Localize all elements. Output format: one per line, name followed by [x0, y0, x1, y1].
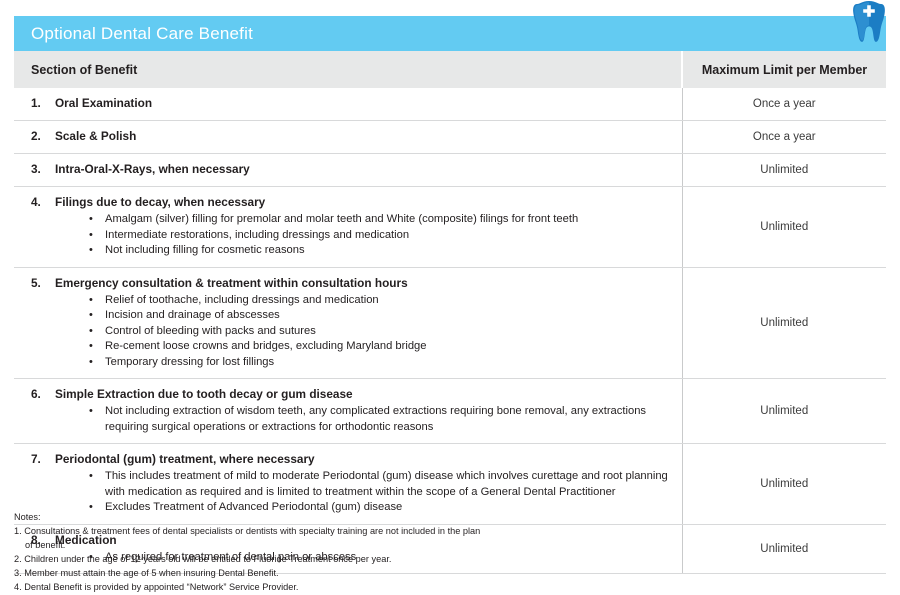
maximum-limit-cell: Unlimited — [682, 154, 886, 187]
benefit-item-number: 7. — [31, 451, 55, 468]
bullet-text: This includes treatment of mild to moder… — [105, 470, 668, 497]
benefit-item-title: Scale & Polish — [55, 128, 672, 145]
bullet-dot-icon: • — [89, 355, 93, 370]
maximum-limit-cell: Once a year — [682, 88, 886, 121]
benefit-item-number: 6. — [31, 386, 55, 403]
note-item: 2. Children under the age of 12 years ol… — [14, 553, 574, 567]
table-body: 1.Oral ExaminationOnce a year2.Scale & P… — [14, 88, 886, 574]
benefit-item-title: Oral Examination — [55, 95, 672, 112]
maximum-limit-cell: Unlimited — [682, 444, 886, 524]
benefit-item-heading: 3.Intra-Oral-X-Rays, when necessary — [31, 161, 672, 178]
bullet-text: Not including extraction of wisdom teeth… — [105, 405, 646, 432]
benefit-section-cell: 2.Scale & Polish — [14, 121, 682, 154]
note-item: 3. Member must attain the age of 5 when … — [14, 567, 574, 581]
table-row: 3.Intra-Oral-X-Rays, when necessaryUnlim… — [14, 154, 886, 187]
table-row: 4.Filings due to decay, when necessary•A… — [14, 187, 886, 267]
bullet-text: Not including filling for cosmetic reaso… — [105, 244, 305, 256]
list-item: •Incision and drainage of abscesses — [31, 308, 672, 323]
bullet-dot-icon: • — [89, 228, 93, 243]
notes-label: Notes: — [14, 511, 574, 525]
page-title-bar: Optional Dental Care Benefit — [14, 16, 886, 51]
benefit-item-number: 4. — [31, 194, 55, 211]
list-item: •Not including extraction of wisdom teet… — [31, 404, 672, 435]
benefit-item-heading: 6.Simple Extraction due to tooth decay o… — [31, 386, 672, 403]
notes-section: Notes: 1. Consultations & treatment fees… — [14, 511, 574, 595]
bullet-text: Intermediate restorations, including dre… — [105, 229, 409, 241]
table-row: 2.Scale & PolishOnce a year — [14, 121, 886, 154]
list-item: •Not including filling for cosmetic reas… — [31, 243, 672, 258]
benefit-section-cell: 1.Oral Examination — [14, 88, 682, 121]
bullet-text: Temporary dressing for lost fillings — [105, 356, 274, 368]
list-item: •Intermediate restorations, including dr… — [31, 228, 672, 243]
note-item: 1. Consultations & treatment fees of den… — [14, 525, 574, 539]
bullet-dot-icon: • — [89, 243, 93, 258]
maximum-limit-cell: Unlimited — [682, 267, 886, 378]
bullet-text: Re-cement loose crowns and bridges, excl… — [105, 340, 427, 352]
note-item: 4. Dental Benefit is provided by appoint… — [14, 581, 574, 595]
benefit-section-cell: 6.Simple Extraction due to tooth decay o… — [14, 379, 682, 444]
bullet-dot-icon: • — [89, 469, 93, 484]
benefit-bullet-list: •Relief of toothache, including dressing… — [31, 293, 672, 370]
maximum-limit-cell: Unlimited — [682, 379, 886, 444]
benefit-item-number: 5. — [31, 275, 55, 292]
benefit-table: Section of Benefit Maximum Limit per Mem… — [14, 51, 886, 574]
benefit-item-title: Intra-Oral-X-Rays, when necessary — [55, 161, 672, 178]
benefit-section-cell: 5.Emergency consultation & treatment wit… — [14, 267, 682, 378]
list-item: •Temporary dressing for lost fillings — [31, 355, 672, 370]
list-item: •Control of bleeding with packs and sutu… — [31, 324, 672, 339]
bullet-dot-icon: • — [89, 324, 93, 339]
benefit-item-title: Periodontal (gum) treatment, where neces… — [55, 451, 672, 468]
benefit-item-heading: 4.Filings due to decay, when necessary — [31, 194, 672, 211]
bullet-dot-icon: • — [89, 308, 93, 323]
bullet-dot-icon: • — [89, 212, 93, 227]
list-item: •Re-cement loose crowns and bridges, exc… — [31, 339, 672, 354]
bullet-dot-icon: • — [89, 339, 93, 354]
column-header-section-of-benefit: Section of Benefit — [14, 51, 682, 88]
benefit-item-title: Emergency consultation & treatment withi… — [55, 275, 672, 292]
benefit-section-cell: 3.Intra-Oral-X-Rays, when necessary — [14, 154, 682, 187]
benefit-bullet-list: •Not including extraction of wisdom teet… — [31, 404, 672, 435]
benefit-item-heading: 7.Periodontal (gum) treatment, where nec… — [31, 451, 672, 468]
benefit-item-number: 1. — [31, 95, 55, 112]
list-item: •Relief of toothache, including dressing… — [31, 293, 672, 308]
bullet-dot-icon: • — [89, 293, 93, 308]
bullet-text: Amalgam (silver) filling for premolar an… — [105, 213, 578, 225]
tooth-with-cross-icon — [852, 0, 886, 44]
benefit-item-number: 2. — [31, 128, 55, 145]
bullet-text: Relief of toothache, including dressings… — [105, 294, 379, 306]
benefit-bullet-list: •This includes treatment of mild to mode… — [31, 469, 672, 515]
list-item: •Amalgam (silver) filling for premolar a… — [31, 212, 672, 227]
benefit-item-heading: 5.Emergency consultation & treatment wit… — [31, 275, 672, 292]
table-header: Section of Benefit Maximum Limit per Mem… — [14, 51, 886, 88]
maximum-limit-cell: Once a year — [682, 121, 886, 154]
note-item-continuation: of benefit. — [14, 539, 574, 553]
list-item: •This includes treatment of mild to mode… — [31, 469, 672, 500]
page-title: Optional Dental Care Benefit — [31, 24, 253, 44]
table-header-row: Section of Benefit Maximum Limit per Mem… — [14, 51, 886, 88]
benefit-item-title: Simple Extraction due to tooth decay or … — [55, 386, 672, 403]
benefit-item-number: 3. — [31, 161, 55, 178]
bullet-dot-icon: • — [89, 404, 93, 419]
table-row: 6.Simple Extraction due to tooth decay o… — [14, 379, 886, 444]
benefit-section-cell: 4.Filings due to decay, when necessary•A… — [14, 187, 682, 267]
benefit-item-title: Filings due to decay, when necessary — [55, 194, 672, 211]
benefit-bullet-list: •Amalgam (silver) filling for premolar a… — [31, 212, 672, 258]
bullet-text: Control of bleeding with packs and sutur… — [105, 325, 316, 337]
maximum-limit-cell: Unlimited — [682, 524, 886, 574]
bullet-text: Incision and drainage of abscesses — [105, 309, 280, 321]
benefit-item-heading: 2.Scale & Polish — [31, 128, 672, 145]
benefit-item-heading: 1.Oral Examination — [31, 95, 672, 112]
maximum-limit-cell: Unlimited — [682, 187, 886, 267]
column-header-maximum-limit: Maximum Limit per Member — [682, 51, 886, 88]
table-row: 1.Oral ExaminationOnce a year — [14, 88, 886, 121]
table-row: 5.Emergency consultation & treatment wit… — [14, 267, 886, 378]
